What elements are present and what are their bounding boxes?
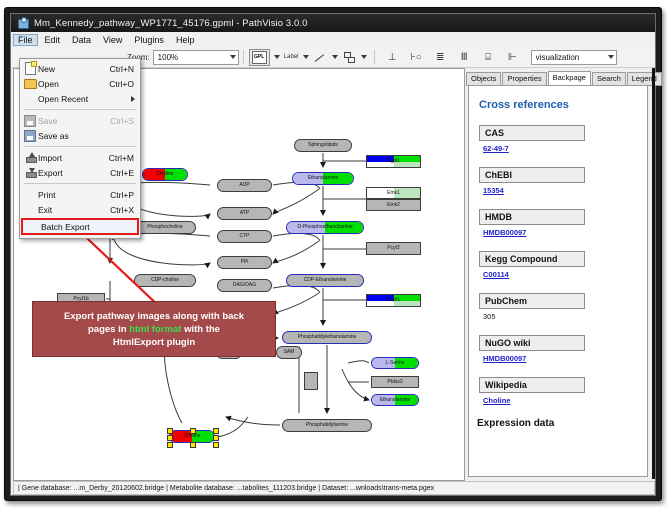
menu-separator-2 [24, 146, 136, 147]
menu-item-label: New [38, 64, 110, 74]
no-icon [22, 188, 38, 201]
backpage-content[interactable]: Cross references CAS 62-49-7 ChEBI 15354… [468, 85, 648, 477]
xref-cas: CAS 62-49-7 [479, 123, 647, 153]
label-icon: Label [284, 54, 299, 60]
menu-item-label: Save [38, 116, 110, 126]
node-unnamed-shape[interactable] [304, 372, 318, 390]
line-tool-button[interactable] [313, 50, 328, 65]
xref-kegg-compound: Kegg Compound C00114 [479, 249, 647, 279]
node-adp[interactable]: ADP [217, 179, 272, 192]
menu-separator-1 [24, 109, 136, 110]
menu-data[interactable]: Data [67, 34, 96, 46]
shape-dropdown-icon[interactable] [361, 55, 367, 59]
xref-pubchem: PubChem 305 [479, 291, 647, 321]
menu-item-label: Exit [38, 205, 110, 215]
file-dropdown-menu[interactable]: New Ctrl+N Open Ctrl+O Open Recent Save … [19, 58, 141, 239]
node-pcyt2[interactable]: Pcyt2 [366, 242, 421, 255]
align-center-button[interactable]: ≣ [433, 50, 448, 65]
xref-link-value[interactable]: HMDB00097 [483, 354, 647, 363]
chevron-down-icon [230, 55, 236, 59]
toolbar-separator [243, 50, 244, 64]
group-button[interactable]: ⊩ [505, 50, 520, 65]
node-label: CDP-choline [151, 278, 179, 283]
align-left-icon: ⊦○ [410, 51, 423, 64]
menu-plugins[interactable]: Plugins [129, 34, 169, 46]
selection-handle-ne[interactable] [213, 428, 219, 434]
line-dropdown-icon[interactable] [332, 55, 338, 59]
no-icon [22, 92, 38, 105]
menu-item-label: Save as [38, 131, 134, 141]
node-ppi[interactable]: PPi [217, 256, 272, 269]
node-dag-dag[interactable]: DAG/DAG [217, 279, 272, 292]
toolbar-separator-2 [374, 50, 375, 64]
selection-handle-s[interactable] [190, 442, 196, 448]
node-etnk2[interactable]: Etnk2 [366, 199, 421, 211]
xref-source-label: CAS [479, 125, 585, 141]
menu-item-save: Save Ctrl+S [20, 113, 140, 128]
node-label: ATP [240, 211, 249, 216]
selection-handle-nw[interactable] [167, 428, 173, 434]
shape-icon [343, 51, 355, 63]
datanode-tool-button[interactable] [249, 49, 270, 66]
node-label: Etnk1 [387, 191, 400, 196]
gpml-icon [252, 51, 267, 64]
menu-item-label: Import [38, 153, 109, 163]
node-ptdss2[interactable]: Ptdss2 [371, 376, 419, 388]
node-label: Ethanolamine [380, 398, 411, 403]
visualization-value: visualization [536, 53, 580, 62]
menu-item-accel: Ctrl+N [110, 64, 134, 74]
node-phosphatidylserine[interactable]: Phosphatidylserine [282, 419, 372, 432]
node-label: Ethanolamine [308, 176, 339, 181]
callout-line-2: pages in html format with the [64, 323, 244, 336]
group-icon: ⊩ [506, 51, 519, 64]
align-center-icon: ≣ [434, 51, 447, 64]
node-ethanolamine-top[interactable]: Ethanolamine [292, 172, 354, 185]
menu-item-label: Print [38, 190, 110, 200]
node-label: Phosphatidylethanolamine [298, 335, 357, 340]
menu-item-accel: Ctrl+P [110, 190, 134, 200]
node-ethanolamine-bottom[interactable]: Ethanolamine [371, 394, 419, 406]
callout-annotation: Export pathway images along with back pa… [32, 301, 276, 357]
node-cept1[interactable]: Cept1 [366, 294, 421, 307]
xref-source-label: Wikipedia [479, 377, 585, 393]
callout-line-3: HtmlExport plugin [64, 336, 244, 349]
xref-link-value[interactable]: 62-49-7 [483, 144, 647, 153]
cross-references-title: Cross references [479, 99, 647, 111]
node-sam[interactable]: SAM [276, 346, 302, 359]
callout-line-2-post: with the [181, 324, 220, 335]
tab-objects[interactable]: Objects [466, 72, 501, 86]
node-choline-top[interactable]: Choline [142, 168, 188, 181]
xref-link-value[interactable]: HMDB00097 [483, 228, 647, 237]
node-sgpl1[interactable]: Sgpl1 [366, 155, 421, 168]
xref-nugo-wiki: NuGO wiki HMDB00097 [479, 333, 647, 363]
tab-properties[interactable]: Properties [502, 72, 546, 86]
menu-item-import[interactable]: Import Ctrl+M [20, 150, 140, 165]
save-icon [22, 114, 38, 127]
node-label: CDP-Ethanolamine [304, 278, 347, 283]
import-icon [22, 151, 38, 164]
callout-line-1: Export pathway images along with back [64, 310, 244, 323]
node-label: CTP [240, 234, 250, 239]
node-label: DAG/DAG [233, 283, 256, 288]
status-text: | Gene database: ...m_Derby_20120602.bri… [18, 485, 434, 492]
chevron-down-icon-2 [608, 55, 614, 59]
node-label: SAM [284, 350, 295, 355]
shape-tool-button[interactable] [342, 50, 357, 65]
xref-source-label: Kegg Compound [479, 251, 585, 267]
screenshot-root: Mm_Kennedy_pathway_WP1771_45176.gpml - P… [0, 0, 670, 509]
node-cdp-choline[interactable]: CDP-choline [134, 274, 196, 287]
menu-item-accel: Ctrl+X [110, 205, 134, 215]
selection-handle-w[interactable] [167, 435, 173, 441]
submenu-arrow-icon [131, 96, 135, 102]
menu-item-new[interactable]: New Ctrl+N [20, 61, 140, 76]
new-file-icon [22, 62, 38, 75]
zoom-combobox[interactable]: 100% [153, 50, 239, 65]
menu-bar: File Edit Data View Plugins Help [11, 32, 655, 48]
node-label: ADP [239, 183, 249, 188]
menu-item-label: Export [38, 168, 110, 178]
xref-link-value[interactable]: C00114 [483, 270, 647, 279]
no-icon [25, 220, 41, 233]
xref-wikipedia: Wikipedia Choline [479, 375, 647, 405]
node-label: Phosphatidylserine [306, 423, 348, 428]
node-atp[interactable]: ATP [217, 207, 272, 220]
datanode-dropdown-icon[interactable] [274, 55, 280, 59]
node-cdp-ethanolamine[interactable]: CDP-Ethanolamine [286, 274, 364, 287]
export-icon [22, 166, 38, 179]
menu-item-open[interactable]: Open Ctrl+O [20, 76, 140, 91]
distribute-button[interactable]: Ⅲ [457, 50, 472, 65]
selection-handle-sw[interactable] [167, 442, 173, 448]
node-label: PPi [241, 260, 249, 265]
xref-plain-value: 305 [483, 312, 647, 321]
align-top-button[interactable]: ⊥ [385, 50, 400, 65]
xref-source-label: NuGO wiki [479, 335, 585, 351]
side-panel: Objects Properties Backpage Search Legen… [466, 68, 652, 479]
node-phosphocholine[interactable]: Phosphocholine [134, 221, 196, 234]
title-bar: Mm_Kennedy_pathway_WP1771_45176.gpml - P… [11, 14, 655, 32]
menu-item-open-recent[interactable]: Open Recent [20, 91, 140, 106]
expression-data-heading: Expression data [477, 418, 647, 429]
node-label: Choline [184, 434, 201, 439]
menu-item-batch-export[interactable]: Batch Export [21, 218, 139, 235]
node-label: Etnk2 [387, 203, 400, 208]
align-left-button[interactable]: ⊦○ [409, 50, 424, 65]
tab-legend[interactable]: Legend [627, 72, 662, 86]
node-label: Ptdss2 [387, 380, 402, 385]
menu-edit[interactable]: Edit [40, 34, 66, 46]
xref-chebi: ChEBI 15354 [479, 165, 647, 195]
window-title: Mm_Kennedy_pathway_WP1771_45176.gpml - P… [34, 18, 308, 29]
xref-link-value[interactable]: 15354 [483, 186, 647, 195]
node-sphingolipids[interactable]: Sphingolipids [294, 139, 352, 152]
menu-item-export[interactable]: Export Ctrl+E [20, 165, 140, 180]
xref-hmdb: HMDB HMDB00097 [479, 207, 647, 237]
node-label: Cept1 [387, 298, 400, 303]
visualization-combobox[interactable]: visualization [531, 50, 617, 65]
menu-item-print[interactable]: Print Ctrl+P [20, 187, 140, 202]
menu-item-save-as[interactable]: Save as [20, 128, 140, 143]
xref-source-label: ChEBI [479, 167, 585, 183]
status-bar: | Gene database: ...m_Derby_20120602.bri… [13, 481, 655, 495]
menu-item-label: Batch Export [41, 222, 137, 232]
node-label: Phosphocholine [147, 225, 183, 230]
selection-handle-se[interactable] [213, 442, 219, 448]
no-icon [22, 203, 38, 216]
tab-search[interactable]: Search [592, 72, 626, 86]
window-client-area: Mm_Kennedy_pathway_WP1771_45176.gpml - P… [10, 13, 656, 496]
selection-handle-e[interactable] [213, 435, 219, 441]
xref-source-label: PubChem [479, 293, 585, 309]
distribute-icon: Ⅲ [458, 51, 471, 64]
side-panel-tabs: Objects Properties Backpage Search Legen… [466, 72, 652, 86]
node-label: O-Phosphoethanolamine [297, 225, 352, 230]
menu-item-exit[interactable]: Exit Ctrl+X [20, 202, 140, 217]
menu-separator-3 [24, 183, 136, 184]
node-label: Pcyt2 [387, 246, 400, 251]
xref-source-label: HMDB [479, 209, 585, 225]
node-l-serine[interactable]: L-Serine [371, 357, 419, 369]
menu-item-accel: Ctrl+E [110, 168, 134, 178]
node-ctp[interactable]: CTP [217, 230, 272, 243]
node-o-phosphoethanolamine[interactable]: O-Phosphoethanolamine [286, 221, 364, 234]
open-folder-icon [22, 77, 38, 90]
menu-view[interactable]: View [98, 34, 127, 46]
align-top-icon: ⊥ [386, 51, 399, 64]
callout-line-2-pre: pages in [88, 324, 129, 335]
label-tool-button[interactable]: Label [284, 50, 299, 65]
stack-icon: ⌸ [482, 51, 495, 64]
menu-item-label: Open Recent [38, 94, 131, 104]
zoom-value: 100% [158, 53, 178, 62]
selection-handle-n[interactable] [190, 428, 196, 434]
node-etnk1[interactable]: Etnk1 [366, 187, 421, 199]
stack-button[interactable]: ⌸ [481, 50, 496, 65]
line-icon [313, 52, 327, 63]
menu-item-accel: Ctrl+S [110, 116, 134, 126]
pathvisio-app-icon [17, 17, 29, 29]
application-window: Mm_Kennedy_pathway_WP1771_45176.gpml - P… [4, 7, 662, 501]
node-label: Sgpl1 [387, 159, 400, 164]
save-as-icon [22, 129, 38, 142]
label-dropdown-icon[interactable] [303, 55, 309, 59]
xref-link-value[interactable]: Choline [483, 396, 647, 405]
menu-item-label: Open [38, 79, 109, 89]
node-label: Sphingolipids [308, 143, 338, 148]
menu-item-accel: Ctrl+M [109, 153, 134, 163]
menu-file[interactable]: File [13, 34, 38, 46]
menu-item-accel: Ctrl+O [109, 79, 134, 89]
node-label: L-Serine [386, 361, 405, 366]
menu-help[interactable]: Help [171, 34, 200, 46]
node-label: Choline [157, 172, 174, 177]
node-phosphatidylethanolamine[interactable]: Phosphatidylethanolamine [282, 331, 372, 344]
tab-backpage[interactable]: Backpage [548, 71, 591, 86]
callout-highlight: html format [129, 324, 181, 335]
panel-gutter [652, 68, 655, 479]
